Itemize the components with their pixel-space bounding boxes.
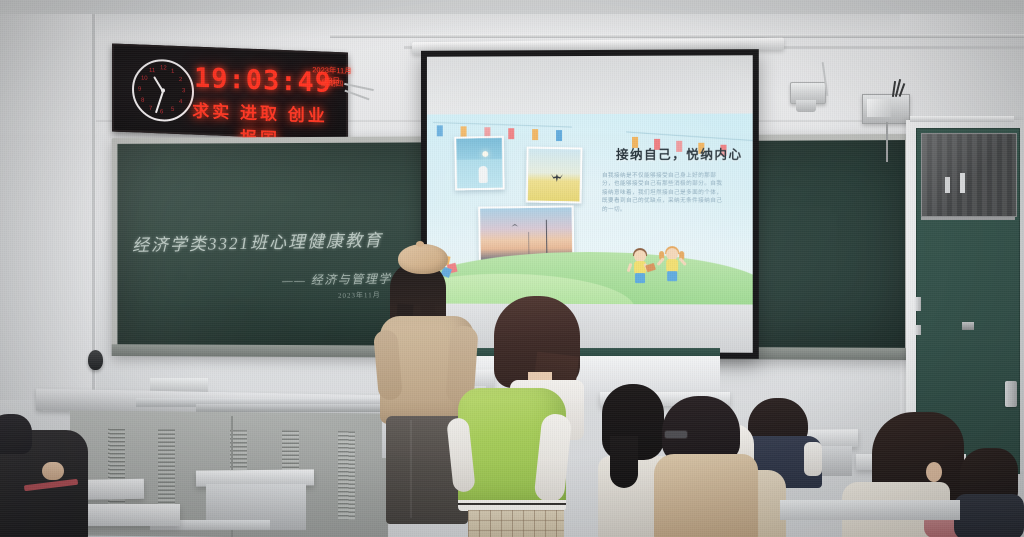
cabinet-vent-louver <box>338 431 355 519</box>
projector-ceiling-rail <box>330 34 1024 38</box>
student-head <box>0 414 32 454</box>
clock-hour-mark: 12 <box>160 65 167 71</box>
photo-pole <box>546 220 547 253</box>
door-hinge-icon <box>915 297 921 311</box>
object-behind-glass <box>945 177 950 193</box>
clock-hour-mark: 3 <box>182 88 185 94</box>
clock-hour-mark: 2 <box>179 77 182 83</box>
student-with-glasses <box>648 396 758 537</box>
bunting-flag <box>508 128 514 139</box>
student-green-varsity-jacket <box>454 296 604 537</box>
eyeglasses-icon <box>664 430 688 439</box>
door-handle[interactable] <box>1005 381 1017 407</box>
student-ear <box>926 462 942 482</box>
photo-jumping-figure <box>551 174 563 182</box>
clock-hour-mark: 9 <box>138 86 141 92</box>
student-hand <box>42 462 64 480</box>
desk-surface <box>780 500 960 520</box>
slide-body-text: 自我接纳是不仅能够接受自己身上好的那部分，也能够接受自己有那些消极的部分。自我接… <box>602 172 727 214</box>
slide-cartoon-girl <box>662 248 682 282</box>
clock-hour-mark: 1 <box>171 69 174 75</box>
left-wall-panel <box>0 0 96 400</box>
student-plaid-skirt <box>468 510 564 537</box>
clock-hour-mark: 5 <box>171 107 174 113</box>
bunting-flag <box>532 129 538 140</box>
student-ponytail <box>610 436 638 488</box>
clock-hour-mark: 8 <box>141 98 144 104</box>
wall-cable-drop <box>886 122 888 162</box>
cartoon-legs <box>635 273 645 283</box>
photo-sun-highlight <box>482 151 488 157</box>
led-clock-panel: 121234567891011 19:03:49 2023年11月23日 星期四… <box>112 43 348 140</box>
wall-electrical-box <box>862 94 910 124</box>
photo-figure <box>479 166 488 183</box>
photo-bird <box>511 224 518 227</box>
clock-hour-mark: 11 <box>149 68 155 74</box>
classroom-photo-scene: 121234567891011 19:03:49 2023年11月23日 星期四… <box>0 0 1024 537</box>
presenter-beret <box>398 244 448 274</box>
student-hair <box>662 396 740 462</box>
podium-front-panel <box>196 404 386 412</box>
door-hinge-icon <box>915 325 921 335</box>
bunting-flag <box>437 125 443 136</box>
clock-hour-mark: 6 <box>160 109 163 115</box>
clock-hour-mark: 4 <box>179 99 182 105</box>
slide-cartoon-boy <box>630 250 650 286</box>
student-far-right-edge <box>960 448 1024 537</box>
door-top-trim <box>910 116 1014 122</box>
door-divider-rail <box>921 217 1015 220</box>
screen-blank-top-band <box>427 55 753 114</box>
clock-center-pin <box>161 88 165 92</box>
ceiling-band <box>0 0 1024 14</box>
door-glass-reflection <box>922 134 1016 216</box>
cartoon-legs <box>667 271 677 281</box>
door-nameplate <box>962 322 974 330</box>
wall-speaker-left-icon <box>88 350 103 370</box>
photo-pole-2 <box>528 232 529 254</box>
slide-photo-field <box>526 147 583 204</box>
slide-title-text: 接纳自己，悦纳内心 <box>604 144 753 163</box>
speaker-mount-bracket <box>796 100 816 112</box>
object-behind-glass-2 <box>960 173 965 193</box>
student-dark-top <box>954 494 1024 537</box>
presenter-beret-nub <box>416 241 424 247</box>
slide-photo-sea <box>454 136 505 191</box>
student-collar <box>804 442 822 476</box>
electrical-box-panel <box>867 99 891 117</box>
bunting-flag <box>556 130 562 141</box>
student-dark-coat-left <box>0 416 96 537</box>
door-transom-window <box>921 133 1017 217</box>
podium-upper-ledge <box>150 378 208 392</box>
left-wall-edge <box>92 0 95 400</box>
student-tan-coat <box>654 454 758 537</box>
clock-hour-mark: 10 <box>141 76 148 82</box>
presenter-skirt-fold <box>410 420 412 518</box>
clock-hour-mark: 7 <box>149 106 152 112</box>
led-time-display: 19:03:49 <box>194 63 312 99</box>
